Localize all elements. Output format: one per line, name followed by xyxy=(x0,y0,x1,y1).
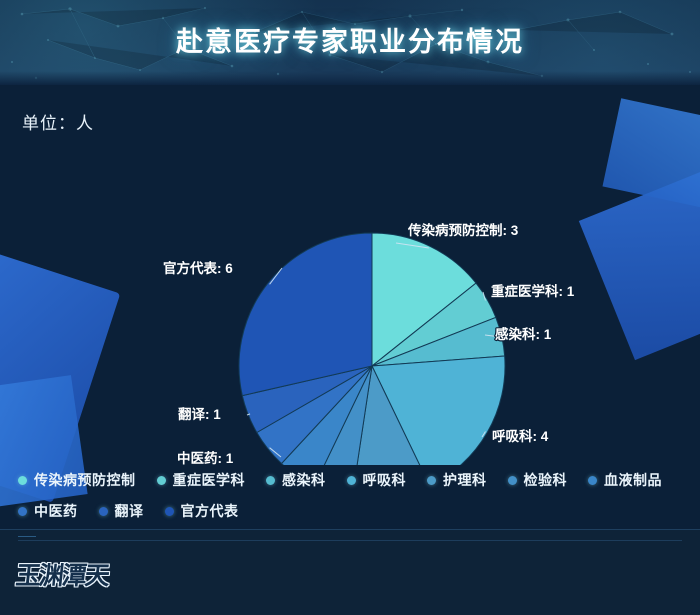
chart-legend[interactable]: 传染病预防控制重症医学科感染科呼吸科护理科检验科血液制品中医药翻译官方代表 xyxy=(18,470,686,521)
footer-divider xyxy=(18,540,682,541)
header-fade xyxy=(0,71,700,85)
legend-label: 中医药 xyxy=(34,501,78,521)
legend-label: 传染病预防控制 xyxy=(34,470,136,490)
legend-item[interactable]: 官方代表 xyxy=(165,501,239,521)
legend-label: 护理科 xyxy=(443,470,487,490)
infographic-root: 赴意医疗专家职业分布情况 单位：人 传染病预防控制: 3重症医学科: 1感染科:… xyxy=(0,0,700,614)
legend-color-dot xyxy=(266,476,275,485)
legend-label: 检验科 xyxy=(524,470,568,490)
pie-chart: 传染病预防控制: 3重症医学科: 1感染科: 1呼吸科: 4护理科: 2检验科:… xyxy=(0,85,700,465)
legend-color-dot xyxy=(18,507,27,516)
pie-slice-label: 重症医学科: 1 xyxy=(491,283,575,299)
legend-color-dot xyxy=(99,507,108,516)
legend-item[interactable]: 中医药 xyxy=(18,501,78,521)
footer-divider-2 xyxy=(18,536,36,537)
legend-label: 翻译 xyxy=(115,501,144,521)
header-banner: 赴意医疗专家职业分布情况 xyxy=(0,0,700,85)
pie-slice-label: 传染病预防控制: 3 xyxy=(407,222,519,238)
legend-color-dot xyxy=(157,476,166,485)
legend-label: 重症医学科 xyxy=(173,470,246,490)
legend-label: 感染科 xyxy=(282,470,326,490)
pie-slice-label: 翻译: 1 xyxy=(178,406,221,422)
legend-item[interactable]: 护理科 xyxy=(427,470,487,490)
legend-color-dot xyxy=(347,476,356,485)
legend-item[interactable]: 检验科 xyxy=(508,470,568,490)
legend-label: 官方代表 xyxy=(181,501,239,521)
legend-color-dot xyxy=(427,476,436,485)
pie-slice-label: 感染科: 1 xyxy=(495,326,552,342)
legend-item[interactable]: 感染科 xyxy=(266,470,326,490)
legend-color-dot xyxy=(508,476,517,485)
legend-label: 呼吸科 xyxy=(363,470,407,490)
pie-slice-label: 呼吸科: 4 xyxy=(492,428,549,444)
legend-item[interactable]: 血液制品 xyxy=(588,470,662,490)
pie-chart-svg: 传染病预防控制: 3重症医学科: 1感染科: 1呼吸科: 4护理科: 2检验科:… xyxy=(0,85,700,465)
legend-item[interactable]: 翻译 xyxy=(99,501,144,521)
legend-color-dot xyxy=(588,476,597,485)
legend-item[interactable]: 重症医学科 xyxy=(157,470,246,490)
pie-slice-label: 中医药: 1 xyxy=(177,450,234,465)
legend-label: 血液制品 xyxy=(604,470,662,490)
legend-color-dot xyxy=(165,507,174,516)
pie-slice-label: 官方代表: 6 xyxy=(163,260,233,276)
legend-color-dot xyxy=(18,476,27,485)
watermark-logo: 玉渊潭天 xyxy=(14,556,110,592)
footer-bar: 玉渊潭天 xyxy=(0,529,700,615)
legend-item[interactable]: 传染病预防控制 xyxy=(18,470,136,490)
legend-item[interactable]: 呼吸科 xyxy=(347,470,407,490)
page-title: 赴意医疗专家职业分布情况 xyxy=(0,20,700,59)
pie-slice-group[interactable] xyxy=(239,233,505,465)
